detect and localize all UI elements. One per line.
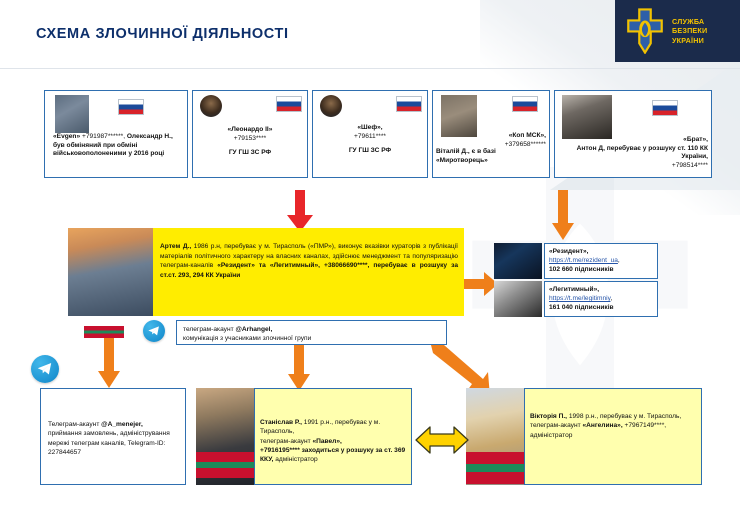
channel-card-legitimniy-text: «Легитимный», https://t.me/legitimniy, 1… (549, 285, 657, 313)
telegram-account-text: телеграм-акаунт @Arhangel, комунікація з… (183, 325, 443, 344)
telegram-icon-arhangel (143, 320, 165, 342)
logo-line-3: УКРАЇНИ (672, 36, 707, 46)
orange-down-arrow-to-bottom-left (98, 338, 120, 388)
sbu-logo-text: СЛУЖБА БЕЗПЕКИ УКРАЇНИ (672, 17, 707, 46)
person-card-leonardo-text: «Леонардо II» +79153**** ГУ ГШ ЗС РФ (196, 126, 304, 158)
bottom-card-a-menejer-text: Телеграм-акаунт @A_menejer, приймання за… (48, 420, 180, 457)
orange-down-arrow-top-to-channels (552, 190, 574, 240)
page-header: СХЕМА ЗЛОЧИННОЇ ДІЯЛЬНОСТІ СЛУЖБА БЕЗПЕК… (0, 0, 740, 68)
avatar-shef (320, 95, 342, 117)
person-card-brat-text: «Брат», Антон Д, перебуває у розшуку ст.… (558, 136, 708, 171)
red-down-arrow-top-to-center (287, 190, 313, 232)
russia-flag-icon-4 (512, 96, 538, 112)
sbu-logo: СЛУЖБА БЕЗПЕКИ УКРАЇНИ (615, 0, 740, 62)
bottom-card-viktoriia-text: Вікторія П., 1998 р.н., перебуває у м. Т… (530, 412, 698, 440)
transnistria-flag-icon-stanislav (196, 452, 254, 478)
sbu-emblem-icon (623, 8, 667, 54)
transnistria-flag-icon-top (84, 326, 124, 338)
russia-flag-icon-2 (276, 96, 302, 112)
schema-page: СХЕМА ЗЛОЧИННОЇ ДІЯЛЬНОСТІ СЛУЖБА БЕЗПЕК… (0, 0, 740, 512)
russia-flag-icon-1 (118, 99, 144, 115)
avatar-kop-msk (441, 95, 477, 137)
avatar-evgen (55, 95, 89, 133)
transnistria-flag-icon-viktoriia (466, 452, 524, 484)
telegram-icon-a-menejer (31, 355, 59, 383)
orange-down-arrow-to-bottom-middle (288, 345, 310, 391)
bottom-card-stanislav-text: Станіслав Р., 1991 р.н., перебуває у м. … (260, 418, 410, 465)
channel-thumb-rezident (494, 243, 542, 279)
russia-flag-icon-3 (396, 96, 422, 112)
person-card-shef-text: «Шеф», +79611**** ГУ ГШ ЗС РФ (316, 124, 424, 156)
center-profile-text: Артем Д., 1986 р.н, перебуває у м. Тирас… (160, 242, 458, 281)
person-card-kop-msk-text: Віталій Д., є в базі «Миротворець» (436, 148, 548, 165)
person-card-evgen-text: «Evgen» +791987******, Олександр Н., був… (53, 133, 181, 159)
yellow-double-arrow (416, 425, 468, 455)
logo-line-2: БЕЗПЕКИ (672, 26, 707, 36)
channel-thumb-legitimniy (494, 281, 542, 317)
footer-spacer (0, 498, 740, 512)
avatar-artem (68, 228, 153, 316)
avatar-brat (562, 95, 612, 139)
avatar-leonardo (200, 95, 222, 117)
logo-line-1: СЛУЖБА (672, 17, 707, 27)
header-divider (0, 68, 740, 69)
person-card-kop-msk-alias: «Коп МСК», +379658****** (436, 132, 546, 149)
orange-right-arrow-center-to-channels (462, 272, 498, 296)
page-title: СХЕМА ЗЛОЧИННОЇ ДІЯЛЬНОСТІ (36, 26, 289, 42)
channel-link-rezident[interactable]: https://t.me/rezident_ua (549, 257, 618, 264)
channel-card-rezident-text: «Резидент», https://t.me/rezident_ua, 10… (549, 247, 657, 275)
russia-flag-icon-5 (652, 100, 678, 116)
channel-link-legitimniy[interactable]: https://t.me/legitimniy (549, 295, 610, 302)
